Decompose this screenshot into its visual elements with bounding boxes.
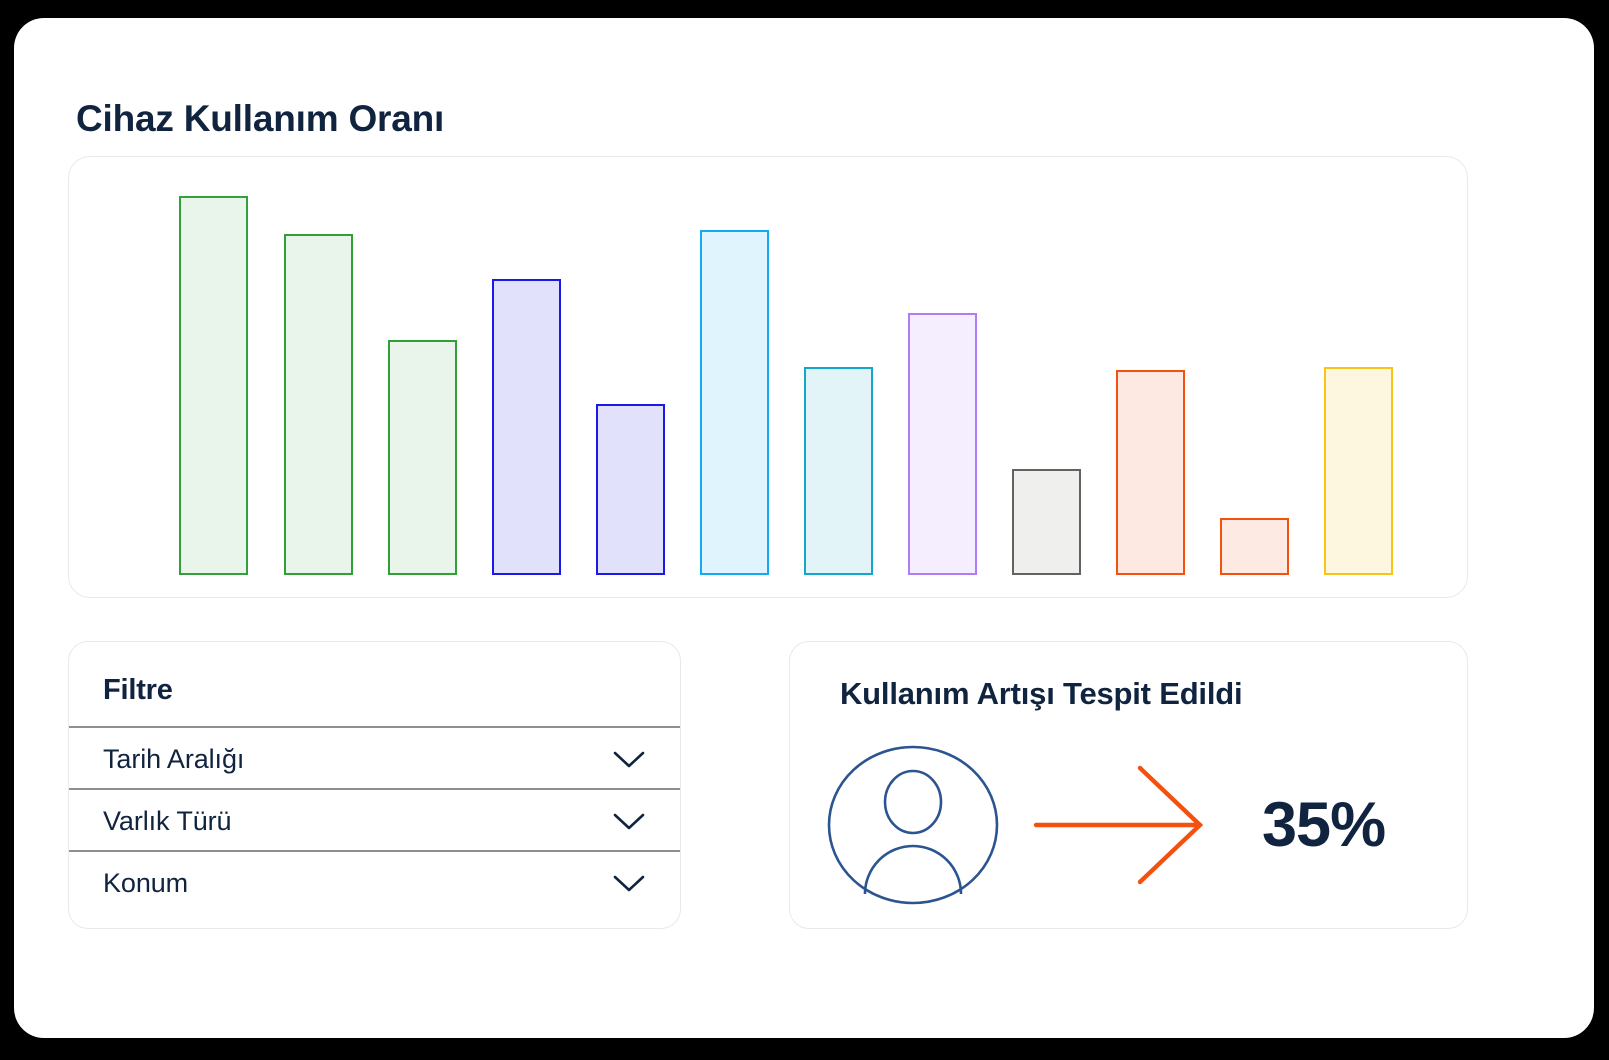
chart-bar — [179, 196, 248, 575]
filter-label-location: Konum — [103, 868, 188, 899]
chart-bar — [1012, 469, 1081, 575]
screen-root: Cihaz Kullanım Oranı Filtre Tarih Aralığ… — [0, 0, 1609, 1060]
insight-body: 35% — [790, 737, 1467, 912]
chart-bar — [492, 279, 561, 575]
chart-bar — [284, 234, 353, 575]
insight-card: Kullanım Artışı Tespit Edildi 35% — [789, 641, 1468, 929]
chart-bar — [1116, 370, 1185, 575]
page-title: Cihaz Kullanım Oranı — [76, 98, 444, 140]
chart-bar — [596, 404, 665, 575]
arrow-right-icon — [1030, 760, 1210, 890]
filter-label-asset-type: Varlık Türü — [103, 806, 231, 837]
user-avatar-icon — [824, 744, 1002, 906]
filter-panel-title: Filtre — [103, 674, 173, 707]
filter-card: Filtre Tarih Aralığı Varlık Türü — [68, 641, 681, 929]
chevron-down-icon[interactable] — [612, 749, 646, 769]
chart-bar — [388, 340, 457, 575]
chart-bar — [700, 230, 769, 575]
insight-title: Kullanım Artışı Tespit Edildi — [840, 676, 1242, 712]
chart-bar — [1324, 367, 1393, 575]
filter-row-asset-type[interactable]: Varlık Türü — [69, 790, 680, 852]
bar-chart-plot — [69, 157, 1467, 597]
chart-bar — [908, 313, 977, 575]
usage-increase-percent: 35% — [1262, 789, 1385, 861]
filter-row-date-range[interactable]: Tarih Aralığı — [69, 728, 680, 790]
main-panel: Cihaz Kullanım Oranı Filtre Tarih Aralığ… — [14, 18, 1594, 1038]
chart-bar — [804, 367, 873, 575]
filter-label-date-range: Tarih Aralığı — [103, 744, 244, 775]
filter-row-location[interactable]: Konum — [69, 852, 680, 914]
chevron-down-icon[interactable] — [612, 811, 646, 831]
chart-card — [68, 156, 1468, 598]
chart-bar — [1220, 518, 1289, 575]
chevron-down-icon[interactable] — [612, 873, 646, 893]
